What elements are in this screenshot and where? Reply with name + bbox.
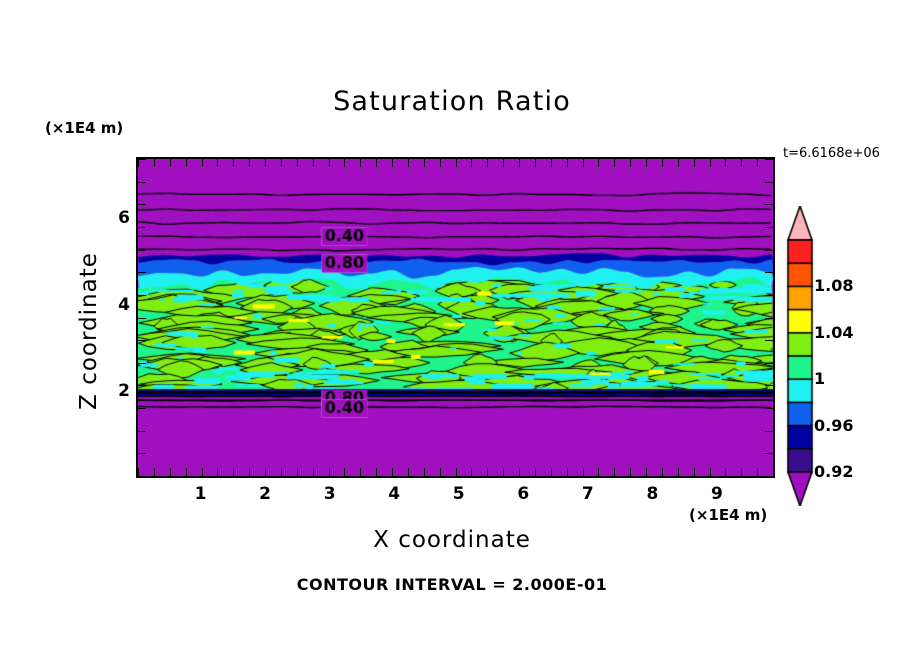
tick-mark — [265, 468, 266, 476]
tick-mark — [519, 468, 520, 476]
tick-mark — [765, 431, 773, 432]
x-tick-label: 4 — [379, 484, 409, 504]
y-axis-unit-label: (×1E4 m) — [45, 119, 123, 137]
tick-mark — [662, 468, 663, 476]
tick-mark — [344, 159, 345, 167]
x-tick-label: 7 — [573, 484, 603, 504]
y-tick-label: 4 — [104, 295, 130, 315]
tick-mark — [202, 159, 203, 167]
tick-mark — [725, 159, 726, 167]
tick-mark — [765, 272, 773, 273]
tick-mark — [765, 476, 773, 477]
x-tick-label: 2 — [250, 484, 280, 504]
tick-mark — [202, 468, 203, 476]
tick-mark — [249, 159, 250, 167]
y-axis-title: Z coordinate — [76, 216, 102, 446]
colorbar — [783, 206, 817, 510]
y-tick-label: 2 — [104, 381, 130, 401]
tick-mark — [765, 227, 773, 228]
tick-mark — [710, 159, 711, 167]
tick-mark — [765, 408, 773, 409]
tick-mark — [773, 159, 774, 167]
tick-mark — [392, 159, 393, 167]
tick-mark — [471, 468, 472, 476]
tick-mark — [138, 476, 146, 477]
tick-mark — [503, 468, 504, 476]
x-tick-label: 9 — [702, 484, 732, 504]
tick-mark — [583, 468, 584, 476]
tick-mark — [503, 159, 504, 167]
tick-mark — [765, 250, 773, 251]
tick-mark — [614, 159, 615, 167]
tick-mark — [535, 159, 536, 167]
tick-mark — [138, 431, 146, 432]
tick-mark — [773, 468, 774, 476]
tick-mark — [313, 159, 314, 167]
tick-mark — [281, 468, 282, 476]
contour-plot-area — [136, 157, 775, 478]
tick-mark — [456, 159, 457, 167]
tick-mark — [765, 295, 773, 296]
tick-mark — [138, 385, 146, 386]
tick-mark — [765, 318, 773, 319]
tick-mark — [725, 468, 726, 476]
tick-mark — [249, 468, 250, 476]
tick-mark — [630, 468, 631, 476]
tick-mark — [313, 468, 314, 476]
tick-mark — [138, 182, 146, 183]
tick-mark — [646, 468, 647, 476]
tick-mark — [630, 159, 631, 167]
tick-mark — [138, 295, 146, 296]
tick-mark — [678, 468, 679, 476]
tick-mark — [535, 468, 536, 476]
tick-mark — [360, 159, 361, 167]
tick-mark — [598, 159, 599, 167]
x-tick-label: 1 — [186, 484, 216, 504]
tick-mark — [583, 159, 584, 167]
colorbar-tick-label: 1.04 — [814, 323, 853, 342]
tick-mark — [138, 363, 146, 364]
tick-mark — [217, 468, 218, 476]
tick-mark — [138, 227, 146, 228]
tick-mark — [551, 468, 552, 476]
tick-mark — [765, 204, 773, 205]
tick-mark — [567, 468, 568, 476]
tick-mark — [424, 468, 425, 476]
tick-mark — [440, 159, 441, 167]
tick-mark — [186, 159, 187, 167]
contour-interval-caption: CONTOUR INTERVAL = 2.000E-01 — [0, 575, 904, 594]
x-tick-label: 3 — [315, 484, 345, 504]
tick-mark — [567, 159, 568, 167]
tick-mark — [408, 159, 409, 167]
tick-mark — [614, 468, 615, 476]
colorbar-tick-label: 0.92 — [814, 462, 853, 481]
tick-mark — [186, 468, 187, 476]
tick-mark — [487, 159, 488, 167]
tick-mark — [765, 385, 773, 386]
contour-field — [138, 159, 773, 476]
tick-mark — [646, 159, 647, 167]
colorbar-gradient — [783, 206, 817, 506]
page-title: Saturation Ratio — [0, 86, 904, 117]
x-tick-label: 5 — [444, 484, 474, 504]
tick-mark — [233, 468, 234, 476]
tick-mark — [471, 159, 472, 167]
tick-mark — [138, 272, 146, 273]
x-tick-label: 8 — [637, 484, 667, 504]
tick-mark — [329, 159, 330, 167]
tick-mark — [360, 468, 361, 476]
x-axis-title: X coordinate — [0, 527, 904, 553]
tick-mark — [408, 468, 409, 476]
tick-mark — [757, 159, 758, 167]
tick-mark — [154, 468, 155, 476]
tick-mark — [741, 468, 742, 476]
x-tick-label: 6 — [508, 484, 538, 504]
tick-mark — [138, 204, 146, 205]
tick-mark — [329, 468, 330, 476]
figure-root: Saturation Ratio (×1E4 m) (×1E4 m) t=6.6… — [0, 0, 904, 654]
tick-mark — [694, 468, 695, 476]
tick-mark — [138, 340, 146, 341]
tick-mark — [694, 159, 695, 167]
tick-mark — [765, 453, 773, 454]
tick-mark — [138, 453, 146, 454]
tick-mark — [281, 159, 282, 167]
tick-mark — [217, 159, 218, 167]
tick-mark — [392, 468, 393, 476]
tick-mark — [138, 318, 146, 319]
tick-mark — [678, 159, 679, 167]
colorbar-tick-label: 1 — [814, 369, 825, 388]
colorbar-tick-label: 0.96 — [814, 416, 853, 435]
y-tick-label: 6 — [104, 208, 130, 228]
tick-mark — [138, 159, 146, 160]
tick-mark — [170, 468, 171, 476]
x-axis-unit-label: (×1E4 m) — [689, 506, 767, 524]
tick-mark — [741, 159, 742, 167]
tick-mark — [297, 468, 298, 476]
tick-mark — [757, 468, 758, 476]
tick-mark — [456, 468, 457, 476]
tick-mark — [662, 159, 663, 167]
tick-mark — [138, 159, 139, 167]
timestamp-annotation: t=6.6168e+06 — [783, 146, 880, 161]
tick-mark — [440, 468, 441, 476]
tick-mark — [551, 159, 552, 167]
tick-mark — [297, 159, 298, 167]
tick-mark — [170, 159, 171, 167]
tick-mark — [765, 363, 773, 364]
tick-mark — [154, 159, 155, 167]
tick-mark — [765, 340, 773, 341]
tick-mark — [233, 159, 234, 167]
tick-mark — [138, 250, 146, 251]
tick-mark — [344, 468, 345, 476]
tick-mark — [765, 159, 773, 160]
tick-mark — [487, 468, 488, 476]
tick-mark — [138, 468, 139, 476]
tick-mark — [265, 159, 266, 167]
tick-mark — [765, 182, 773, 183]
tick-mark — [376, 159, 377, 167]
tick-mark — [376, 468, 377, 476]
tick-mark — [598, 468, 599, 476]
tick-mark — [138, 408, 146, 409]
tick-mark — [519, 159, 520, 167]
tick-mark — [710, 468, 711, 476]
colorbar-tick-label: 1.08 — [814, 276, 853, 295]
tick-mark — [424, 159, 425, 167]
